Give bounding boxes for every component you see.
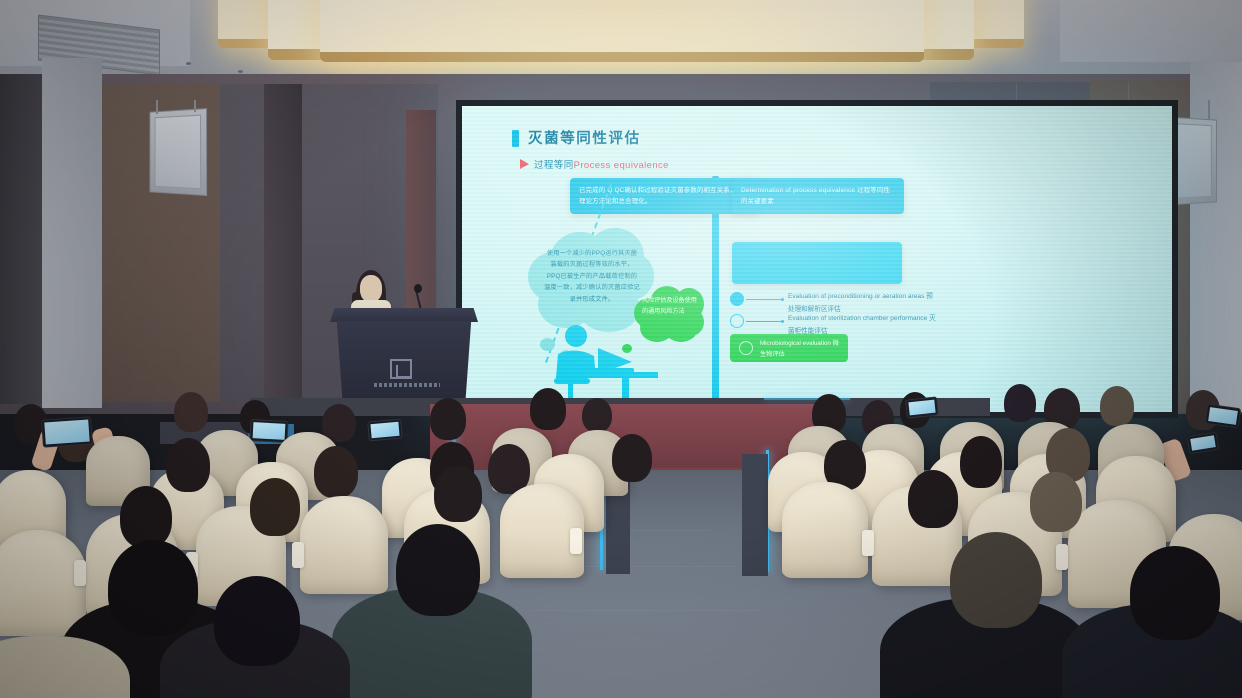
green-highlight-box: Microbiological evaluation 微生物评估: [730, 334, 848, 362]
podium-emblem-icon: [390, 359, 412, 379]
wall-column-light-right: [1190, 62, 1242, 412]
phone-screen: [908, 400, 935, 416]
chair: [782, 482, 868, 578]
smartphone-recording[interactable]: [367, 419, 403, 442]
audience-head: [434, 466, 482, 522]
audience-head: [530, 388, 566, 430]
chair-sash: [1056, 544, 1068, 570]
bullet-leader-line: [746, 299, 782, 300]
wall-column-light-left: [42, 58, 102, 408]
audience-head: [908, 470, 958, 528]
foreground-person-head: [1130, 546, 1220, 640]
podium-nameplate: [374, 383, 440, 387]
ceiling-panel-right: [1060, 0, 1242, 62]
bullet-leader-line: [746, 321, 782, 322]
podium: [330, 308, 478, 398]
conference-hall-scene: 灭菌等同性评估 过程等同Process equivalence 已完成的 Q Q…: [0, 0, 1242, 698]
audience-head: [174, 392, 208, 432]
phone-screen: [1208, 407, 1238, 425]
smartphone-recording[interactable]: [905, 396, 939, 418]
wall-column-far-left: [0, 74, 42, 404]
audience-head: [582, 398, 612, 432]
thought-cloud-green-text: 风险评估及设备使用的通用风险方法: [642, 296, 700, 318]
speaker-mount-bracket: [1208, 100, 1210, 120]
smartphone-recording[interactable]: [41, 416, 93, 447]
ceiling-panel-left: [0, 0, 190, 66]
green-highlight-text: Microbiological evaluation 微生物评估: [760, 339, 844, 361]
audience-head: [612, 434, 652, 482]
side-drape-left: [264, 84, 302, 402]
speaker-grille-icon: [155, 115, 201, 190]
phone-screen: [370, 422, 399, 438]
projection-screen: 灭菌等同性评估 过程等同Process equivalence 已完成的 Q Q…: [462, 106, 1172, 412]
ceiling-fixture-dot: [238, 70, 243, 73]
microbe-icon: [739, 341, 753, 355]
callout-box-right: Determination of process equivalence 过程等…: [732, 178, 904, 214]
speaker-mount-bracket: [194, 100, 196, 112]
smartphone-recording[interactable]: [1187, 432, 1219, 454]
audience-head: [166, 438, 210, 492]
audience-head: [960, 436, 1002, 488]
chair-sash: [292, 542, 304, 568]
title-bullet-mark: [512, 130, 519, 147]
slide-title: 灭菌等同性评估: [528, 127, 641, 148]
foreground-person-head: [214, 576, 300, 666]
slide-subtitle-cn: 过程等同: [534, 160, 574, 171]
bullet-marker-ring: [730, 314, 744, 328]
audience-head: [314, 446, 358, 498]
audience-head: [250, 478, 300, 536]
phone-screen: [44, 419, 89, 444]
presentation-slide: 灭菌等同性评估 过程等同Process equivalence 已完成的 Q Q…: [462, 106, 1172, 412]
phone-screen: [1190, 435, 1216, 451]
highlight-box-blank: [732, 242, 902, 284]
foreground-person-head: [108, 540, 198, 636]
slide-subtitle: 过程等同Process equivalence: [534, 157, 669, 171]
projection-screen-frame: 灭菌等同性评估 过程等同Process equivalence 已完成的 Q Q…: [456, 100, 1178, 418]
slide-subtitle-en: Process equivalence: [574, 160, 669, 171]
ceiling-fixture-dot: [186, 62, 191, 65]
thought-cloud-blue-text: 使用一个减少的PPQ运行其灭菌装载的灭菌过程等效的水平，PPQ已被生产的产品载荷…: [544, 248, 640, 305]
smartphone-recording[interactable]: [249, 419, 288, 443]
aisle-panel-right: [742, 454, 768, 576]
chair-sash: [74, 560, 86, 586]
subtitle-triangle-icon: [520, 159, 529, 169]
microphone-icon: [414, 284, 422, 293]
audience-head: [1030, 472, 1082, 532]
phone-screen: [253, 422, 286, 440]
chair-sash: [862, 530, 874, 556]
chair: [300, 496, 388, 594]
podium-front-panel: [334, 321, 474, 399]
audience-head: [430, 398, 466, 440]
left-wall-speaker: [149, 108, 207, 196]
chair-sash: [570, 528, 582, 554]
audience-head: [1004, 384, 1036, 422]
presenter-head: [360, 275, 382, 302]
foreground-person-head: [396, 524, 480, 616]
ceiling-cove-inner: [320, 0, 924, 62]
podium-top-surface: [330, 308, 478, 322]
speaker-mount-bracket: [156, 100, 158, 114]
foreground-person-head: [950, 532, 1042, 628]
audience-head: [1100, 386, 1134, 426]
bullet-marker-filled: [730, 292, 744, 306]
audience-head: [120, 486, 172, 548]
